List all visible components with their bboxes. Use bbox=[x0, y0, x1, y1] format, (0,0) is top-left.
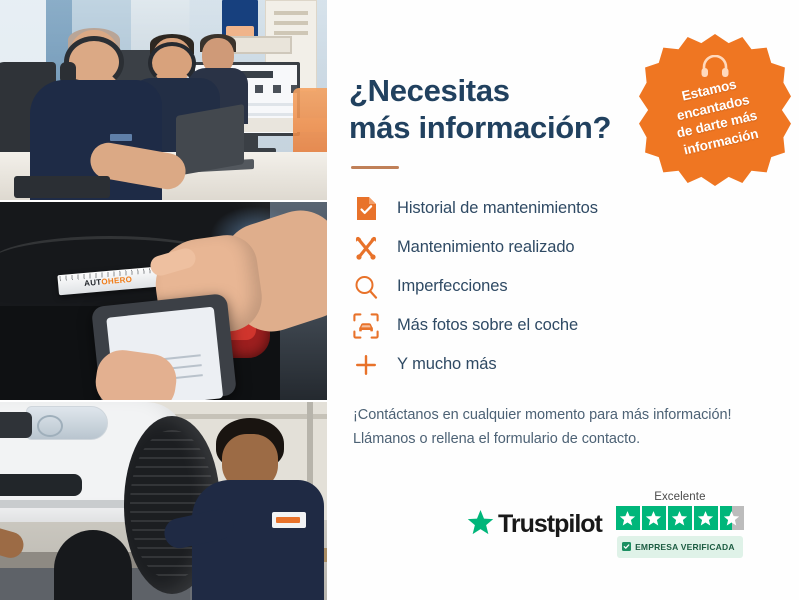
star-filled bbox=[668, 506, 692, 530]
contact-line-2: Llámanos o rellena el formulario de cont… bbox=[353, 428, 775, 451]
trustpilot-logo: Trustpilot bbox=[467, 509, 602, 541]
photo-collage: AUTOHERO bbox=[0, 0, 327, 600]
star-filled bbox=[616, 506, 640, 530]
rating-stars bbox=[616, 506, 744, 530]
title-divider bbox=[351, 166, 399, 169]
trustpilot-star-icon bbox=[467, 509, 494, 541]
feature-label: Imperfecciones bbox=[397, 277, 507, 296]
star-filled bbox=[694, 506, 718, 530]
feature-label: Mantenimiento realizado bbox=[397, 238, 574, 257]
plus-icon bbox=[351, 350, 381, 380]
trustpilot-rating: Excelente bbox=[616, 491, 744, 558]
car-inspection-photo: AUTOHERO bbox=[0, 200, 327, 400]
feature-label: Más fotos sobre el coche bbox=[397, 316, 578, 335]
trustpilot-brand-name: Trustpilot bbox=[498, 510, 602, 539]
information-banner: AUTOHERO bbox=[0, 0, 799, 600]
magnifier-icon bbox=[351, 272, 381, 302]
verified-label: EMPRESA VERIFICADA bbox=[635, 542, 735, 552]
contact-line-1: ¡Contáctanos en cualquier momento para m… bbox=[353, 404, 775, 427]
feature-item-fotos: Más fotos sobre el coche bbox=[351, 306, 775, 345]
headline-line-2: más información? bbox=[349, 110, 611, 145]
feature-item-mantenimiento: Mantenimiento realizado bbox=[351, 228, 775, 267]
feature-label: Y mucho más bbox=[397, 355, 496, 374]
verified-check-icon bbox=[622, 538, 631, 556]
car-camera-focus-icon bbox=[351, 311, 381, 341]
contact-text: ¡Contáctanos en cualquier momento para m… bbox=[353, 404, 775, 450]
tools-wrench-screwdriver-icon bbox=[351, 233, 381, 263]
feature-label: Historial de mantenimientos bbox=[397, 199, 598, 218]
feature-item-mas: Y mucho más bbox=[351, 345, 775, 384]
star-filled bbox=[642, 506, 666, 530]
page-title: ¿Necesitas más información? bbox=[349, 72, 649, 146]
feature-item-imperfecciones: Imperfecciones bbox=[351, 267, 775, 306]
content-panel: ¿Necesitas más información? Estamos enca… bbox=[327, 0, 799, 600]
star-half bbox=[720, 506, 744, 530]
document-check-icon bbox=[351, 194, 381, 224]
feature-list: Historial de mantenimientos M bbox=[351, 189, 775, 384]
status-badge: Estamos encantados de darte más informac… bbox=[639, 34, 791, 186]
trustpilot-widget[interactable]: Trustpilot Excelente bbox=[467, 491, 744, 558]
mechanic-wheel-photo bbox=[0, 400, 327, 600]
feature-item-historial: Historial de mantenimientos bbox=[351, 189, 775, 228]
call-center-agents-photo bbox=[0, 0, 327, 200]
rating-label: Excelente bbox=[654, 491, 705, 503]
verified-business-badge: EMPRESA VERIFICADA bbox=[617, 536, 743, 558]
headline-line-1: ¿Necesitas bbox=[349, 73, 510, 108]
